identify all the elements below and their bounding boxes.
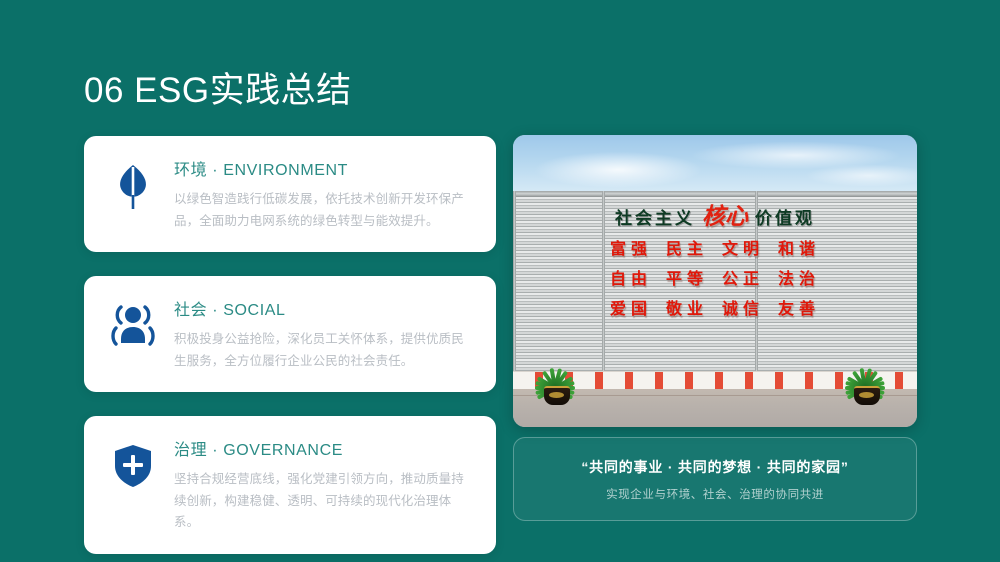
slide-root: 06 ESG实践总结 环境 · ENVIRONMENT 以绿色智造践行低碳发展，… bbox=[0, 0, 1000, 562]
esg-card-list: 环境 · ENVIRONMENT 以绿色智造践行低碳发展，依托技术创新开发环保产… bbox=[84, 136, 496, 554]
potted-palm-left bbox=[535, 351, 579, 405]
wall-value-row: 爱国敬业诚信友善 bbox=[513, 301, 917, 317]
wall-text-block: 社会主义核心价值观 富强民主文明和谐 自由平等公正法治 爱国敬业诚信友善 bbox=[513, 205, 917, 331]
wall-value-row: 自由平等公正法治 bbox=[513, 271, 917, 287]
quote-main-text: “共同的事业 · 共同的梦想 · 共同的家园” bbox=[581, 457, 848, 477]
wall-value-word: 敬业 bbox=[666, 299, 708, 318]
esg-card-social[interactable]: 社会 · SOCIAL 积极投身公益抢险，深化员工关怀体系，提供优质民生服务，全… bbox=[84, 276, 496, 392]
page-title: 06 ESG实践总结 bbox=[84, 62, 352, 113]
wall-value-word: 友善 bbox=[778, 299, 820, 318]
esg-card-heading: 环境 · ENVIRONMENT bbox=[174, 156, 474, 180]
wall-value-word: 和谐 bbox=[778, 239, 820, 258]
wall-headline-suffix: 价值观 bbox=[755, 209, 815, 229]
wall-headline: 社会主义核心价值观 bbox=[513, 205, 917, 228]
wall-value-word: 公正 bbox=[722, 269, 764, 288]
leaf-icon bbox=[106, 156, 160, 212]
esg-card-body: 治理 · GOVERNANCE 坚持合规经营底线，强化党建引领方向，推动质量持续… bbox=[160, 436, 474, 534]
wall-headline-accent: 核心 bbox=[695, 203, 755, 230]
wall-value-word: 爱国 bbox=[610, 299, 652, 318]
esg-card-body: 社会 · SOCIAL 积极投身公益抢险，深化员工关怀体系，提供优质民生服务，全… bbox=[160, 296, 474, 372]
shield-plus-icon bbox=[106, 436, 160, 490]
esg-card-environment[interactable]: 环境 · ENVIRONMENT 以绿色智造践行低碳发展，依托技术创新开发环保产… bbox=[84, 136, 496, 252]
wall-value-word: 诚信 bbox=[722, 299, 764, 318]
esg-card-description: 积极投身公益抢险，深化员工关怀体系，提供优质民生服务，全方位履行企业公民的社会责… bbox=[174, 329, 474, 372]
esg-card-governance[interactable]: 治理 · GOVERNANCE 坚持合规经营底线，强化党建引领方向，推动质量持续… bbox=[84, 416, 496, 554]
wall-value-word: 文明 bbox=[722, 239, 764, 258]
flower-pot bbox=[544, 386, 570, 405]
wall-headline-prefix: 社会主义 bbox=[615, 209, 695, 229]
wall-region: 社会主义核心价值观 富强民主文明和谐 自由平等公正法治 爱国敬业诚信友善 bbox=[513, 191, 917, 371]
wall-value-word: 富强 bbox=[610, 239, 652, 258]
people-icon bbox=[106, 296, 160, 350]
wall-top-rail bbox=[513, 191, 917, 197]
wall-value-row: 富强民主文明和谐 bbox=[513, 241, 917, 257]
esg-card-description: 坚持合规经营底线，强化党建引领方向，推动质量持续创新，构建稳健、透明、可持续的现… bbox=[174, 469, 474, 534]
quote-box: “共同的事业 · 共同的梦想 · 共同的家园” 实现企业与环境、社会、治理的协同… bbox=[513, 437, 917, 521]
esg-card-heading: 社会 · SOCIAL bbox=[174, 296, 474, 320]
wall-value-word: 民主 bbox=[666, 239, 708, 258]
potted-palm-right bbox=[845, 351, 889, 405]
wall-value-word: 自由 bbox=[610, 269, 652, 288]
esg-card-heading: 治理 · GOVERNANCE bbox=[174, 436, 474, 460]
esg-card-body: 环境 · ENVIRONMENT 以绿色智造践行低碳发展，依托技术创新开发环保产… bbox=[160, 156, 474, 232]
flower-pot bbox=[854, 386, 880, 405]
sky-region bbox=[513, 135, 917, 193]
wall-value-word: 法治 bbox=[778, 269, 820, 288]
socialist-core-values-wall-photo: 社会主义核心价值观 富强民主文明和谐 自由平等公正法治 爱国敬业诚信友善 bbox=[513, 135, 917, 427]
wall-value-word: 平等 bbox=[666, 269, 708, 288]
esg-card-description: 以绿色智造践行低碳发展，依托技术创新开发环保产品，全面助力电网系统的绿色转型与能… bbox=[174, 189, 474, 232]
quote-sub-text: 实现企业与环境、社会、治理的协同共进 bbox=[606, 486, 824, 502]
